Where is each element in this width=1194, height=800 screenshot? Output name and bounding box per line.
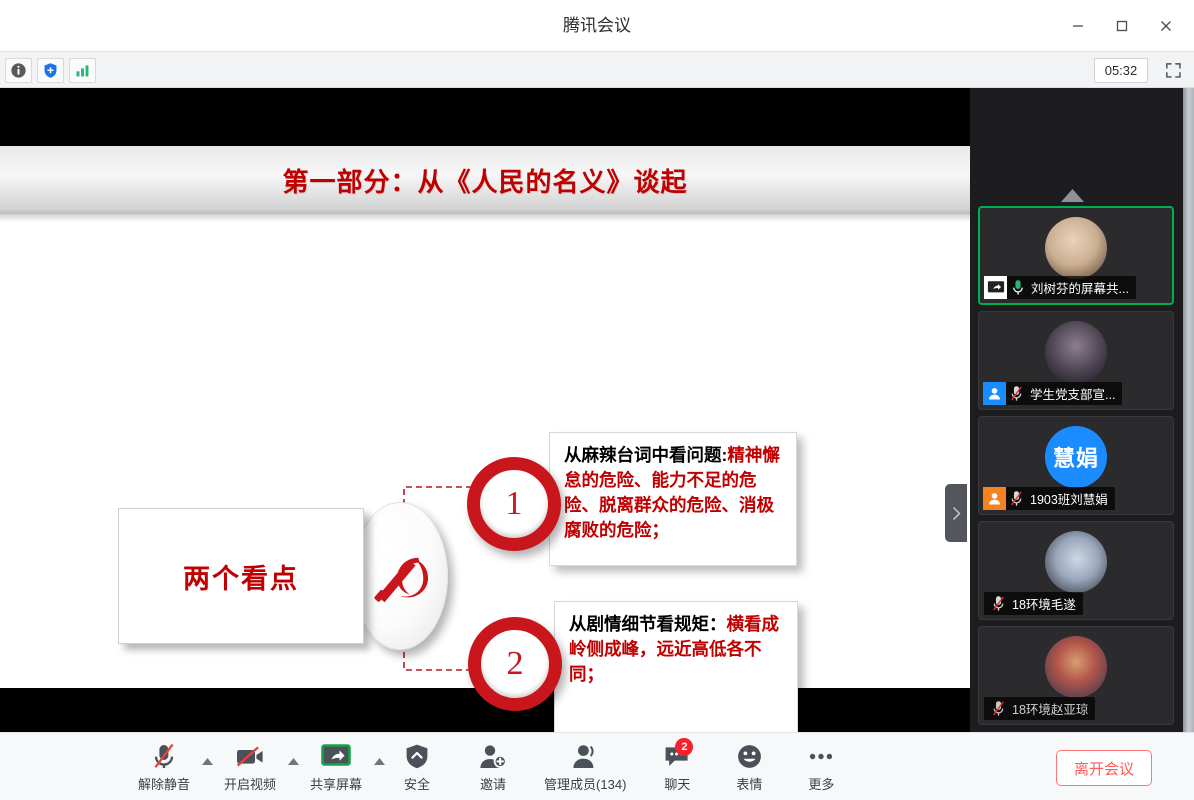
start-video-button[interactable]: 开启视频 [216,737,284,797]
collapse-panel-button[interactable] [945,484,967,542]
screen-share-icon [984,276,1007,299]
participant-name: 18环境赵亚琼 [1009,699,1088,718]
emoji-icon [736,742,763,770]
manage-members-icon [571,742,599,770]
invite-button[interactable]: 邀请 [464,737,522,797]
slide-item-1-number-text: 1 [506,485,523,523]
slide-left-node: 两个看点 [118,508,364,644]
minimize-icon[interactable] [1056,6,1100,46]
mic-muted-icon [988,697,1009,720]
caret-up-icon [373,757,386,766]
caret-up-icon [201,757,214,766]
triangle-up-icon [1059,188,1086,203]
slide-item-2-number-text: 2 [507,645,524,683]
window-title: 腾讯会议 [0,0,1194,52]
avatar-initials: 慧娟 [1053,441,1099,473]
window-controls [1056,0,1188,52]
mic-muted-icon [1006,487,1027,510]
network-signal-icon[interactable] [69,58,96,83]
leave-meeting-button[interactable]: 离开会议 [1056,750,1152,786]
camera-off-icon [235,742,265,770]
tencent-meeting-window: 腾讯会议 [0,0,1194,800]
host-badge-icon [983,382,1006,405]
mic-muted-icon [151,742,177,770]
slide-left-node-text: 两个看点 [183,557,299,596]
participant-name-bar: 1903班刘慧娟 [983,487,1115,510]
participant-tile-list: 刘树芬的屏幕共... [978,206,1174,731]
chat-unread-badge: 2 [675,738,693,756]
slide-heading-text: 第一部分：从《人民的名义》谈起 [282,162,687,199]
share-screen-button[interactable]: 共享屏幕 [302,737,370,797]
more-dots-icon [807,742,835,770]
audio-options-caret[interactable] [198,737,216,797]
participant-tile[interactable]: 刘树芬的屏幕共... [978,206,1174,305]
maximize-icon[interactable] [1100,6,1144,46]
meeting-toolbar: 解除静音 开启视频 [0,732,1194,800]
toolbar-label: 管理成员(134) [544,774,626,793]
participant-name-bar: 学生党支部宣... [983,382,1122,405]
unmute-button[interactable]: 解除静音 [130,737,198,797]
toolbar-label: 安全 [404,774,430,793]
participant-tile[interactable]: 18环境赵亚琼 [978,626,1174,725]
sub-toolbar-left [5,52,96,88]
toolbar-items: 解除静音 开启视频 [130,733,850,800]
slide-item-2-black-text: 从剧情细节看规矩： [569,614,727,634]
participant-name: 学生党支部宣... [1027,384,1115,403]
slide-item-2-number: 2 [468,617,562,711]
chevron-right-icon [950,506,963,521]
participant-name: 刘树芬的屏幕共... [1028,278,1129,297]
share-options-caret[interactable] [370,737,388,797]
toolbar-label: 聊天 [664,774,690,793]
sub-toolbar-right: 05:32 [1094,52,1186,88]
shield-plus-icon[interactable] [37,58,64,83]
shared-screen-stage[interactable]: 第一部分：从《人民的名义》谈起 [0,88,970,732]
screen-share-icon [320,742,352,770]
slide-item-1-text: 从麻辣台词中看问题:精神懈怠的危险、能力不足的危险、脱离群众的危险、消极腐败的危… [564,443,784,543]
video-options-caret[interactable] [284,737,302,797]
cohost-badge-icon [983,487,1006,510]
emoji-button[interactable]: 表情 [720,737,778,797]
slide-item-2-text: 从剧情细节看规矩：横看成岭侧成峰，远近高低各不同； [569,612,785,687]
security-button[interactable]: 安全 [388,737,446,797]
participant-name: 1903班刘慧娟 [1027,489,1108,508]
party-emblem-icon [370,552,432,610]
title-bar: 腾讯会议 [0,0,1194,52]
avatar [1045,531,1107,593]
participant-name-bar: 刘树芬的屏幕共... [984,276,1136,299]
participant-tile[interactable]: 18环境毛遂 [978,521,1174,620]
manage-members-button[interactable]: 管理成员(134) [536,737,634,797]
mic-muted-icon [988,592,1009,615]
info-icon[interactable] [5,58,32,83]
mic-muted-icon [1006,382,1027,405]
toolbar-label: 共享屏幕 [310,774,362,793]
slide-item-1-black-text: 从麻辣台词中看问题: [564,445,727,465]
meeting-timer: 05:32 [1094,58,1148,83]
slide-item-1-number: 1 [467,457,561,551]
slide-item-1-callout: 从麻辣台词中看问题:精神懈怠的危险、能力不足的危险、脱离群众的危险、消极腐败的危… [549,432,797,566]
toolbar-label: 更多 [808,774,834,793]
caret-up-icon [287,757,300,766]
close-icon[interactable] [1144,6,1188,46]
fullscreen-icon[interactable] [1160,57,1186,83]
toolbar-label: 表情 [736,774,762,793]
avatar: 慧娟 [1045,426,1107,488]
participant-tile[interactable]: 学生党支部宣... [978,311,1174,410]
avatar [1045,217,1107,279]
rail-scroll-up-button[interactable] [970,184,1174,206]
participant-name: 18环境毛遂 [1009,594,1076,613]
toolbar-label: 开启视频 [224,774,276,793]
chat-button[interactable]: 2 聊天 [648,737,706,797]
toolbar-label: 解除静音 [138,774,190,793]
slide-item-2-callout: 从剧情细节看规矩：横看成岭侧成峰，远近高低各不同； [554,601,798,732]
avatar [1045,636,1107,698]
more-button[interactable]: 更多 [792,737,850,797]
toolbar-label: 邀请 [480,774,506,793]
participant-rail[interactable]: 刘树芬的屏幕共... [970,88,1194,732]
participant-name-bar: 18环境毛遂 [984,592,1083,615]
chat-icon: 2 [663,742,691,770]
party-emblem [352,502,448,650]
participant-name-bar: 18环境赵亚琼 [984,697,1095,720]
rail-scrollbar[interactable] [1183,88,1194,732]
invite-user-icon [479,742,507,770]
avatar [1045,321,1107,383]
slide-heading-band: 第一部分：从《人民的名义》谈起 [0,146,970,214]
mic-on-icon [1007,276,1028,299]
shield-icon [404,742,430,770]
presentation-slide: 第一部分：从《人民的名义》谈起 [0,146,970,688]
participant-tile[interactable]: 慧娟 [978,416,1174,515]
meeting-sub-toolbar: 05:32 [0,52,1194,88]
